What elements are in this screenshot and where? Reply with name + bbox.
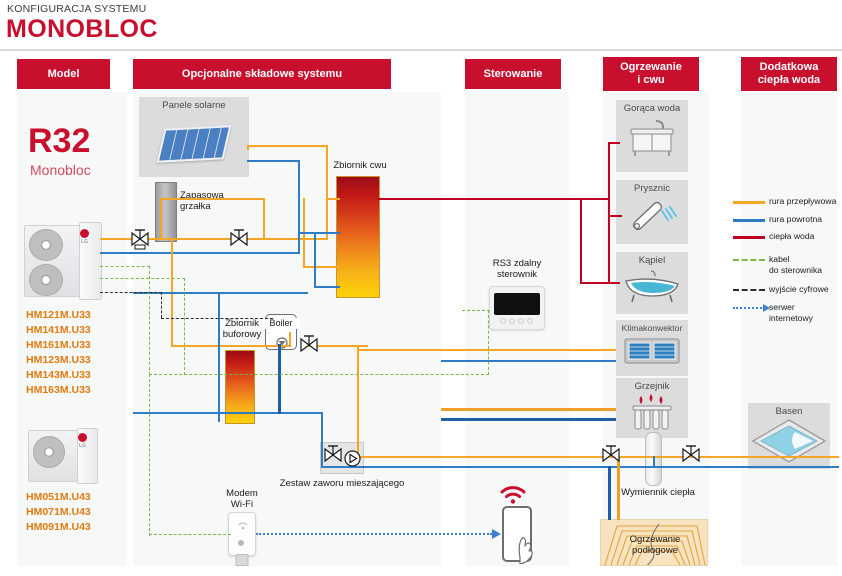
column-header-control: Sterowanie <box>465 59 561 89</box>
legend-swatch-flow-pipe <box>733 201 765 204</box>
modem-lg-dot <box>238 540 244 546</box>
odu-fan-top <box>29 229 63 261</box>
cable-digital-drop <box>161 292 162 318</box>
cable-green-trunk <box>149 374 489 375</box>
pipe-flow-dhw-low <box>303 266 340 268</box>
smartphone-icon <box>502 506 532 562</box>
legend-label: serwer internetowy <box>765 302 813 323</box>
legend-swatch-internet-server <box>733 307 765 309</box>
backup-heater-icon <box>155 182 177 242</box>
model-item: HM121M.U33 <box>26 308 91 323</box>
icon-box-hot-water: Gorąca woda <box>616 100 688 172</box>
bath-label: Kąpiel <box>639 256 665 267</box>
pipe-hotwater-to-sink <box>608 142 620 144</box>
valve-backup-heater <box>129 228 151 250</box>
pipe-flow-mixing-v <box>357 349 359 456</box>
column-header-heating: Ogrzewanie i cwu <box>603 57 699 91</box>
legend-label: rura przepływowa <box>765 196 836 207</box>
model-item: HM091M.U43 <box>26 520 91 535</box>
outdoor-unit-large: LG <box>24 222 102 300</box>
legend: rura przepływowa rura powrotna ciepła wo… <box>733 196 841 331</box>
cable-digital-odu <box>100 292 162 293</box>
cable-green-modem <box>149 534 231 535</box>
column-header-optional: Opcjonalne składowe systemu <box>133 59 391 89</box>
model-item: HM141M.U33 <box>26 323 91 338</box>
pipe-return-dhw-base <box>314 286 340 288</box>
dhw-tank-label: Zbiornik cwu <box>320 160 400 171</box>
remote-controller-icon <box>489 286 545 330</box>
pipe-return-fancoil <box>441 360 616 362</box>
outdoor-unit-small: LG <box>28 428 98 484</box>
pipe-flow-radiator-feed <box>441 408 616 411</box>
valve-boiler <box>298 334 320 356</box>
pipe-flow-solar-down <box>247 145 249 150</box>
page-title: MONOBLOC <box>6 15 158 44</box>
legend-label: wyjście cyfrowe <box>765 284 829 295</box>
model-item: HM163M.U33 <box>26 383 91 398</box>
bathtub-icon <box>621 267 683 305</box>
legend-item: ciepła woda <box>733 231 841 242</box>
refrigerant-label: R32 <box>28 122 90 161</box>
pipe-flow-ufh-drop <box>617 458 620 520</box>
pipe-return-hex <box>653 456 655 468</box>
backup-heater-label: Zapasowa grzałka <box>180 190 224 213</box>
legend-swatch-hot-water <box>733 236 765 239</box>
pool-label: Basen <box>776 407 803 418</box>
lg-logo-text: LG <box>81 239 88 245</box>
boiler-label: Boiler <box>262 318 300 329</box>
pump-icon <box>344 450 361 467</box>
dhw-tank-icon <box>336 176 380 298</box>
cable-green-remote <box>462 310 490 311</box>
sink-icon <box>624 117 680 159</box>
column-header-extra-dhw: Dodatkowa ciepła woda <box>741 57 837 91</box>
legend-swatch-return-pipe <box>733 219 765 222</box>
legend-swatch-controller-cable <box>733 259 765 261</box>
refrigerant-sublabel: Monobloc <box>30 162 91 178</box>
radiator-label: Grzejnik <box>635 382 670 393</box>
valve-3way-dhw <box>228 228 250 250</box>
pipe-hotwater-to-bath <box>580 282 620 284</box>
legend-item: wyjście cyfrowe <box>733 284 841 295</box>
model-item: HM161M.U33 <box>26 338 91 353</box>
solar-panel-icon <box>157 125 232 162</box>
pipe-return-ufh-drop <box>608 466 611 520</box>
legend-label: rura powrotna <box>765 214 822 225</box>
remote-buttons <box>490 315 546 327</box>
cable-digital-trunk <box>161 318 273 319</box>
odu-fan-bottom <box>29 264 63 296</box>
lg-logo-dot <box>80 229 89 238</box>
legend-item: serwer internetowy <box>733 302 841 323</box>
shower-icon <box>624 195 680 235</box>
legend-item: rura przepływowa <box>733 196 841 207</box>
model-item: HM143M.U33 <box>26 368 91 383</box>
model-item: HM123M.U33 <box>26 353 91 368</box>
cable-green-modem-v <box>149 374 150 536</box>
icon-box-radiator: Grzejnik <box>616 378 688 438</box>
pipe-hotwater-bath-drop <box>580 198 582 284</box>
modem-usb-plug <box>236 554 249 566</box>
pipe-flow-solar-top <box>247 145 327 147</box>
wifi-icon <box>499 484 527 504</box>
solar-panel-label: Panele solarne <box>162 101 225 112</box>
remote-screen <box>494 293 540 315</box>
legend-swatch-digital-output <box>733 289 765 291</box>
heat-exchanger-label: Wymiennik ciepła <box>608 487 708 498</box>
pipe-return-bottom-trunk <box>369 466 839 468</box>
page-kicker: KONFIGURACJA SYSTEMU <box>7 3 146 15</box>
pipe-return-riser <box>298 160 300 254</box>
lg-logo-dot <box>78 433 87 442</box>
cable-green-drop2 <box>184 278 185 375</box>
pipe-return-odu-out <box>100 252 300 254</box>
pipe-flow-dhw-mid <box>326 198 340 200</box>
radiator-icon <box>624 393 680 433</box>
underfloor-heating-icon: Ogrzewanie podłogowe <box>600 519 708 566</box>
legend-item: rura powrotna <box>733 214 841 225</box>
wifi-signal-icon <box>229 516 257 534</box>
legend-label: kabel do sterownika <box>765 254 822 275</box>
valve-hex-left <box>600 444 622 466</box>
icon-box-fancoil: Klimakonwektor <box>616 320 688 376</box>
icon-box-shower: Prysznic <box>616 180 688 244</box>
legend-item: kabel do sterownika <box>733 254 841 275</box>
shower-label: Prysznic <box>634 184 670 195</box>
diagram-root: KONFIGURACJA SYSTEMU MONOBLOC Model Opcj… <box>0 0 842 576</box>
odu-fan <box>33 436 65 468</box>
pipe-flow-boiler-down <box>289 332 291 347</box>
title-divider <box>0 49 842 51</box>
solar-panel-box: Panele solarne <box>139 97 249 177</box>
pipe-flow-heater-left <box>160 198 162 240</box>
cable-green-to-remote <box>488 310 489 375</box>
pipe-hotwater-riser <box>608 142 610 282</box>
pipe-flow-buffer-top <box>171 345 291 347</box>
pipe-return-radiator <box>441 418 616 421</box>
pipe-return-solar-top <box>247 160 300 162</box>
cable-internet <box>256 533 492 535</box>
icon-box-bath: Kąpiel <box>616 252 688 314</box>
fancoil-icon <box>623 336 681 366</box>
pipe-boiler-riser <box>278 344 281 414</box>
remote-controller-label: RS3 zdalny sterownik <box>474 258 560 281</box>
cable-green-odu2 <box>100 278 185 279</box>
pipe-flow-heater-top <box>160 198 265 200</box>
pipe-flow-solar-right <box>326 145 328 240</box>
fancoil-label: Klimakonwektor <box>622 324 683 334</box>
pipe-return-to-dhw <box>298 232 340 234</box>
hand-touch-icon <box>504 508 534 564</box>
pipe-flow-heater-right <box>263 198 265 240</box>
wifi-modem-label: Modem Wi-Fi <box>212 488 272 511</box>
model-list-u43: HM051M.U43 HM071M.U43 HM091M.U43 <box>26 490 91 535</box>
pipe-return-dhw-bottom <box>314 232 316 288</box>
mixing-valve-kit-label: Zestaw zaworu mieszającego <box>272 478 412 489</box>
model-list-u33: HM121M.U33 HM141M.U33 HM161M.U33 HM123M.… <box>26 308 91 397</box>
model-item: HM071M.U43 <box>26 505 91 520</box>
valve-hex-right <box>680 444 702 466</box>
column-header-model: Model <box>17 59 110 89</box>
hot-water-label: Gorąca woda <box>624 104 681 115</box>
cable-green-drop1 <box>149 266 150 375</box>
pipe-hotwater-to-shower <box>608 215 622 217</box>
lg-logo-text: LG <box>79 443 86 449</box>
legend-label: ciepła woda <box>765 231 814 242</box>
internet-arrow-icon <box>492 529 502 539</box>
pipe-flow-fancoil-feed <box>441 349 616 351</box>
pipe-return-buffer-v <box>218 292 220 422</box>
pipe-return-lower <box>133 412 323 414</box>
valve-mixing <box>322 444 344 466</box>
wifi-modem-icon <box>228 512 256 556</box>
underfloor-heating-label: Ogrzewanie podłogowe <box>601 534 708 557</box>
icon-box-pool: Basen <box>748 403 830 469</box>
cable-green-odu <box>100 266 150 267</box>
pipe-hotwater-main <box>378 198 610 200</box>
model-item: HM051M.U43 <box>26 490 91 505</box>
